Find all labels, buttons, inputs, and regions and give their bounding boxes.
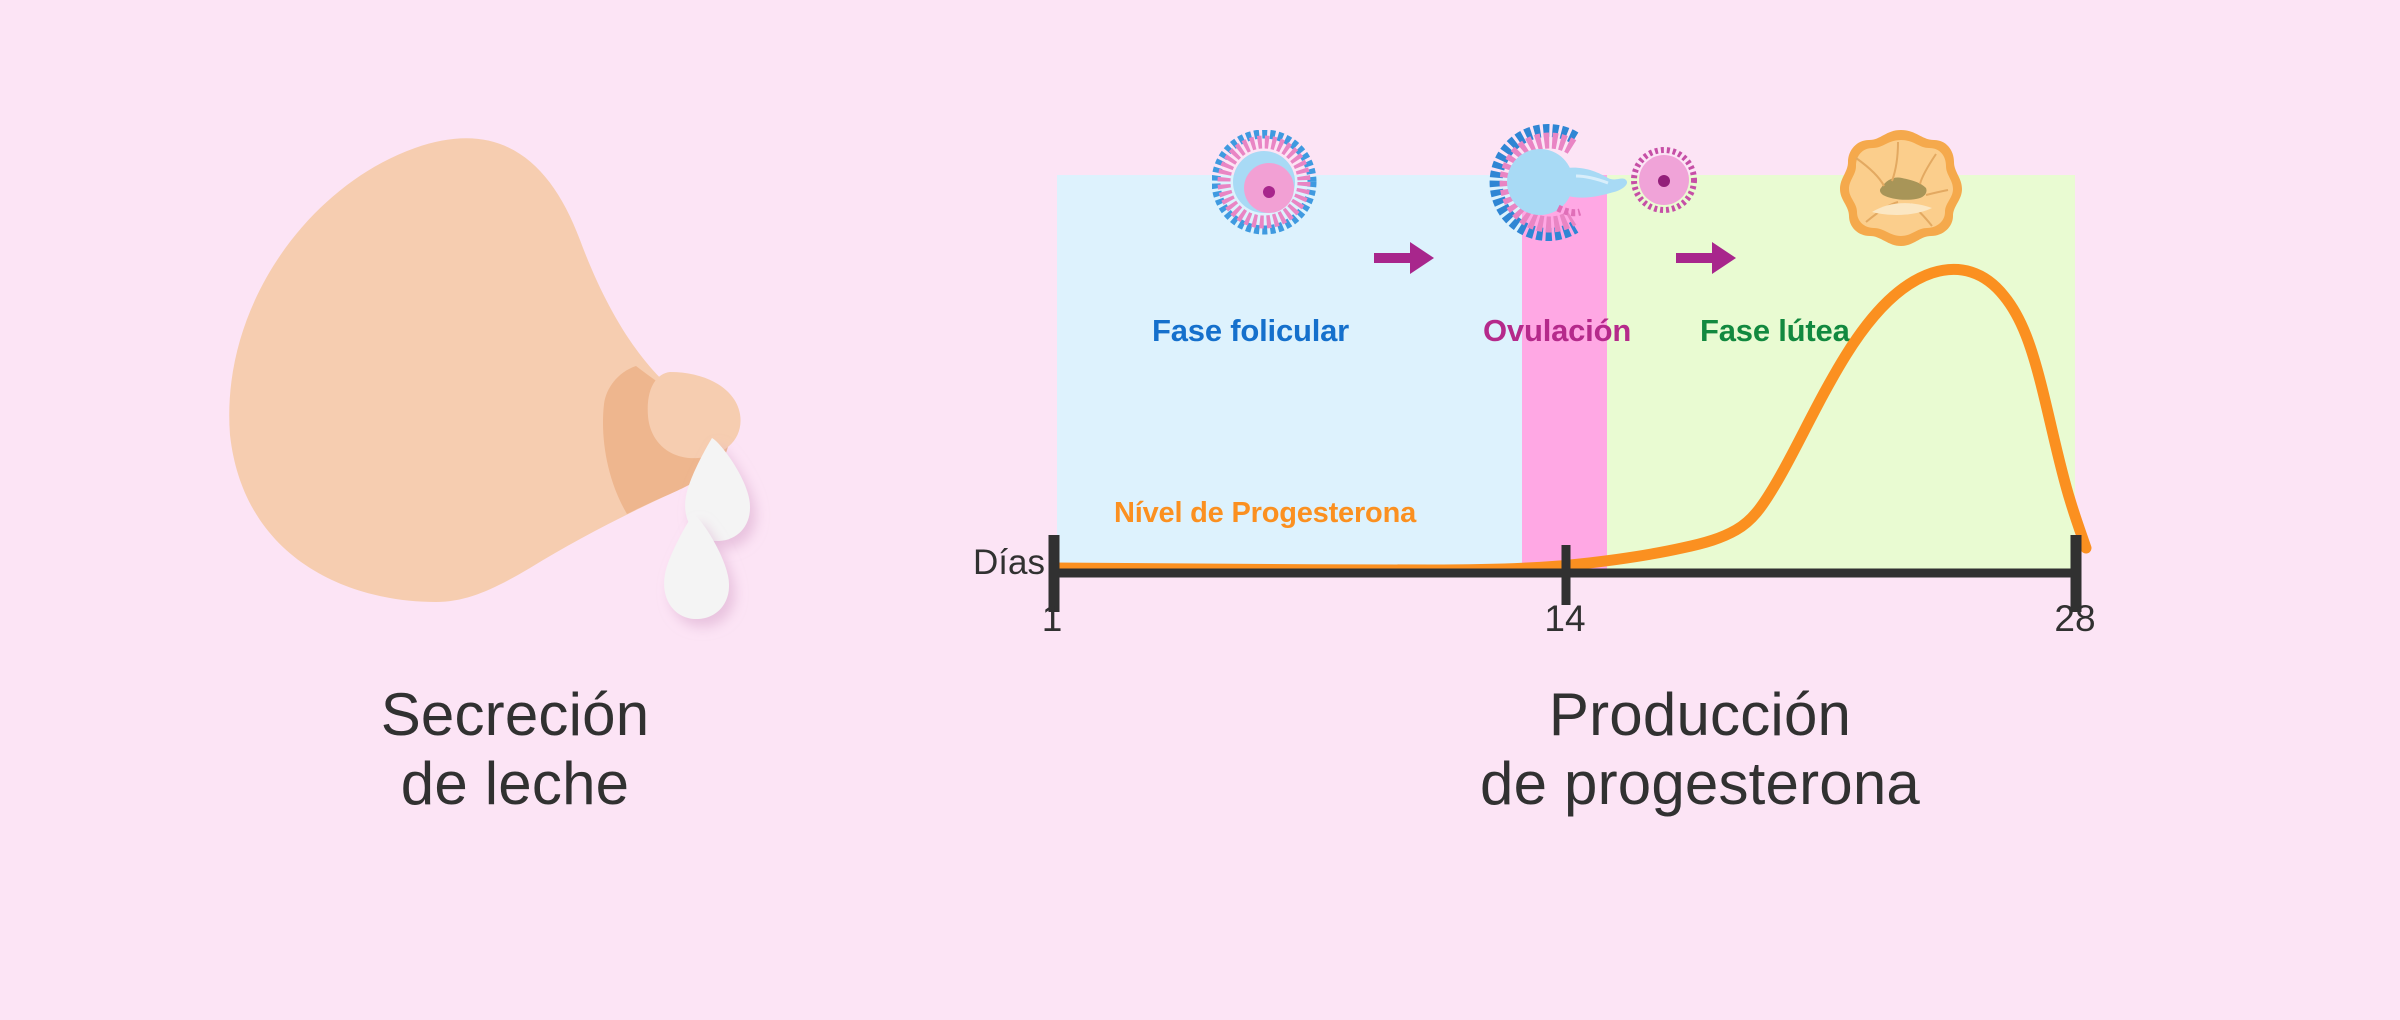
phase-label-luteal: Fase lútea [1700, 313, 1850, 349]
arrow-right-icon [1676, 240, 1736, 276]
x-tick-label-14: 14 [1525, 598, 1605, 640]
milk-secretion-panel: Secreción de leche [0, 0, 1000, 1020]
caption-line-1: Secreción [0, 680, 1030, 749]
phase-label-ovulation: Ovulación [1483, 313, 1631, 349]
x-axis-caption: Días [945, 543, 1045, 583]
ovarian-follicle-icon [1212, 130, 1317, 235]
arrow-right-icon [1374, 240, 1434, 276]
corpus-luteum-icon [1836, 126, 1966, 251]
caption-line-2: de leche [0, 749, 1030, 818]
progesterone-curve-label: Nível de Progesterona [1114, 497, 1416, 530]
phase-label-follicular: Fase folicular [1152, 313, 1349, 349]
caption-line-1: Producción [1000, 680, 2400, 749]
nipple-shape [648, 372, 741, 458]
breast-illustration [200, 90, 800, 650]
progesterone-production-caption: Producción de progesterona [1000, 680, 2400, 818]
released-ovum-icon [1628, 144, 1700, 216]
caption-line-2: de progesterona [1000, 749, 2400, 818]
rupturing-follicle-icon [1480, 120, 1635, 245]
infographic-canvas: Secreción de leche [0, 0, 2400, 1020]
breast-shape [229, 138, 728, 602]
x-tick-label-28: 28 [2035, 598, 2115, 640]
x-tick-label-1: 1 [1012, 598, 1092, 640]
progesterone-production-panel: Fase folicular Ovulación Fase lútea Níve… [1000, 0, 2400, 1020]
milk-secretion-caption: Secreción de leche [0, 680, 1030, 818]
menstrual-cycle-chart: Fase folicular Ovulación Fase lútea Níve… [1000, 0, 2400, 660]
